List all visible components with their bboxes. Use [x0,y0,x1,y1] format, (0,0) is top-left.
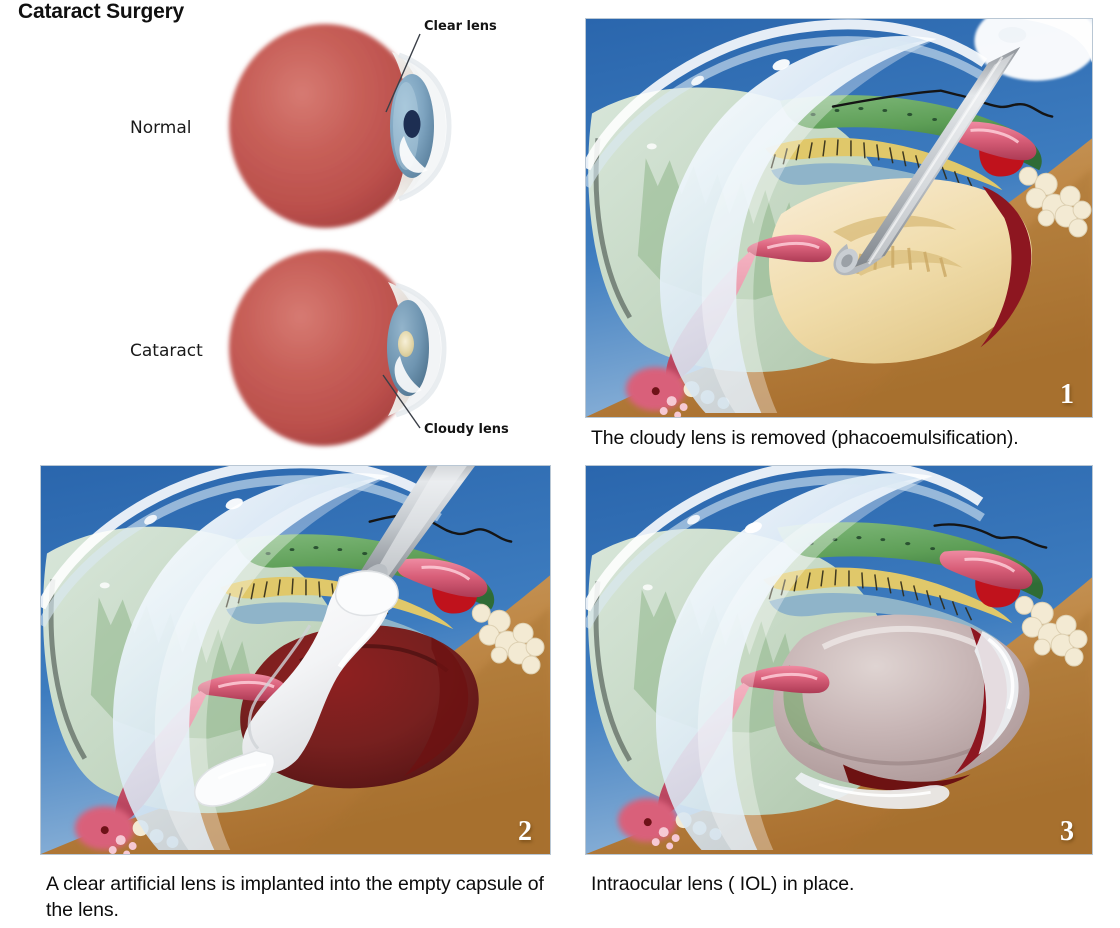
cornea-highlight-3 [647,143,657,149]
panel3-illustration [586,466,1092,854]
vessel-dot-dark [644,818,652,826]
callout-cloudy-lens: Cloudy lens [424,422,509,437]
caption-step-2: A clear artificial lens is implanted int… [46,871,546,923]
eyelid-highlight [998,27,1026,43]
panel-step-2: 2 [40,465,551,855]
callout-clear-lens: Clear lens [424,19,497,34]
cloudy-lens-cataract [398,331,414,357]
cataract-eye-illustration [229,250,444,446]
overview-diagram: Normal Cataract Clear lens Cloudy lens [0,0,570,455]
vessel-dot-dark [652,387,660,395]
pupil-normal [404,110,421,138]
panel1-illustration [586,19,1092,417]
cornea-highlight-3 [100,582,110,588]
caption-step-1: The cloudy lens is removed (phacoemulsif… [591,425,1096,451]
overview-svg [0,0,570,455]
normal-eye-illustration [229,24,449,228]
caption-step-3: Intraocular lens ( IOL) in place. [591,871,1096,897]
vessel-dot-dark [101,826,109,834]
panel-step-1: 1 [585,18,1093,418]
panel2-illustration [41,466,550,854]
cornea-highlight-3 [643,584,653,590]
panel-step-3: 3 [585,465,1093,855]
overview-label-normal: Normal [130,118,192,138]
overview-label-cataract: Cataract [130,341,203,361]
iol-haptic-upper [336,571,399,615]
